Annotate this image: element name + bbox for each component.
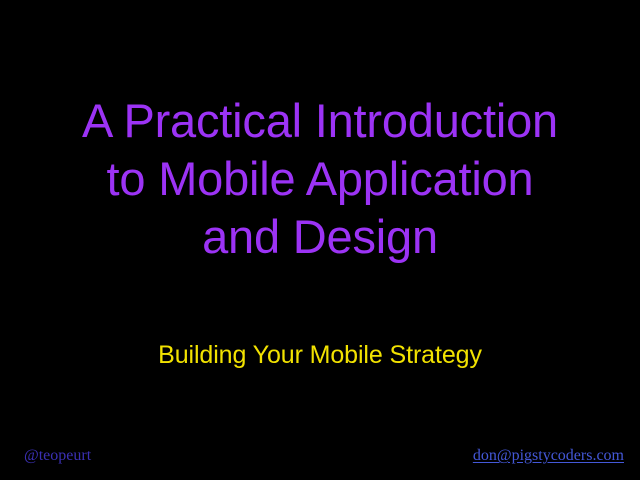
subtitle-text: Building Your Mobile Strategy bbox=[0, 340, 640, 370]
slide-title: A Practical Introduction to Mobile Appli… bbox=[0, 92, 640, 266]
title-line-2: to Mobile Application bbox=[0, 150, 640, 208]
twitter-handle[interactable]: @teopeurt bbox=[24, 447, 91, 465]
title-slide: A Practical Introduction to Mobile Appli… bbox=[0, 0, 640, 480]
slide-subtitle: Building Your Mobile Strategy bbox=[0, 340, 640, 370]
slide-footer: @teopeurt don@pigstycoders.com bbox=[0, 438, 640, 480]
title-line-1: A Practical Introduction bbox=[0, 92, 640, 150]
title-line-3: and Design bbox=[0, 208, 640, 266]
email-link[interactable]: don@pigstycoders.com bbox=[473, 447, 624, 465]
